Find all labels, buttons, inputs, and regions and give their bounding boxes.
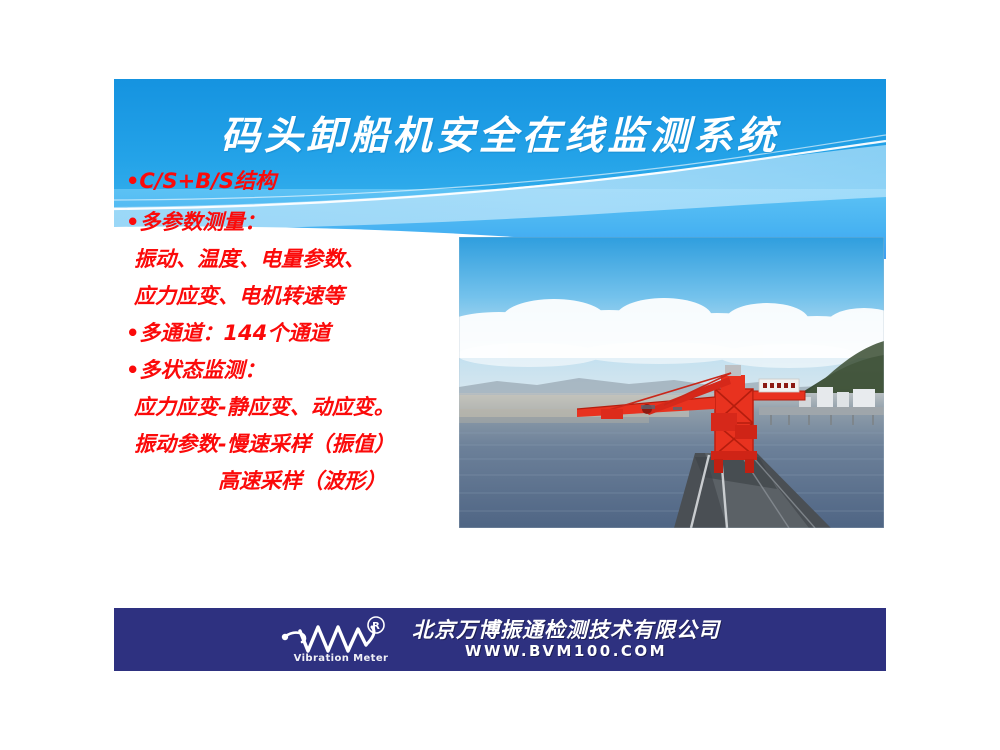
company-website: WWW.BVM100.COM: [412, 644, 720, 659]
list-item: •多状态监测：: [126, 360, 476, 381]
bullet-list: •C/S+B/S结构 •多参数测量： 振动、温度、电量参数、 应力应变、电机转速…: [126, 171, 476, 508]
presentation-slide: 码头卸船机安全在线监测系统 •C/S+B/S结构 •多参数测量： 振动、温度、电…: [114, 79, 886, 672]
list-item: 振动、温度、电量参数、: [126, 249, 476, 270]
slide-title: 码头卸船机安全在线监测系统: [114, 105, 886, 161]
footer-bar: R Vibration Meter 北京万博振通检测技术有限公司 WWW.BVM…: [114, 608, 886, 671]
company-name: 北京万博振通检测技术有限公司: [412, 620, 720, 641]
list-item: 应力应变-静应变、动应变。: [126, 397, 476, 418]
company-identity: 北京万博振通检测技术有限公司 WWW.BVM100.COM: [412, 620, 720, 659]
logo-caption: Vibration Meter: [280, 653, 402, 664]
list-item: •多参数测量：: [126, 212, 476, 233]
list-item: •C/S+B/S结构: [126, 171, 476, 192]
list-item: 应力应变、电机转速等: [126, 286, 476, 307]
svg-text:R: R: [372, 621, 380, 632]
list-item: 高速采样（波形）: [126, 471, 476, 492]
registered-trademark-icon: R: [366, 615, 386, 635]
vibration-meter-logo: R Vibration Meter: [280, 617, 402, 663]
port-crane-photo: [459, 237, 884, 528]
list-item: •多通道：144个通道: [126, 323, 476, 344]
list-item: 振动参数-慢速采样（振值）: [126, 434, 476, 455]
